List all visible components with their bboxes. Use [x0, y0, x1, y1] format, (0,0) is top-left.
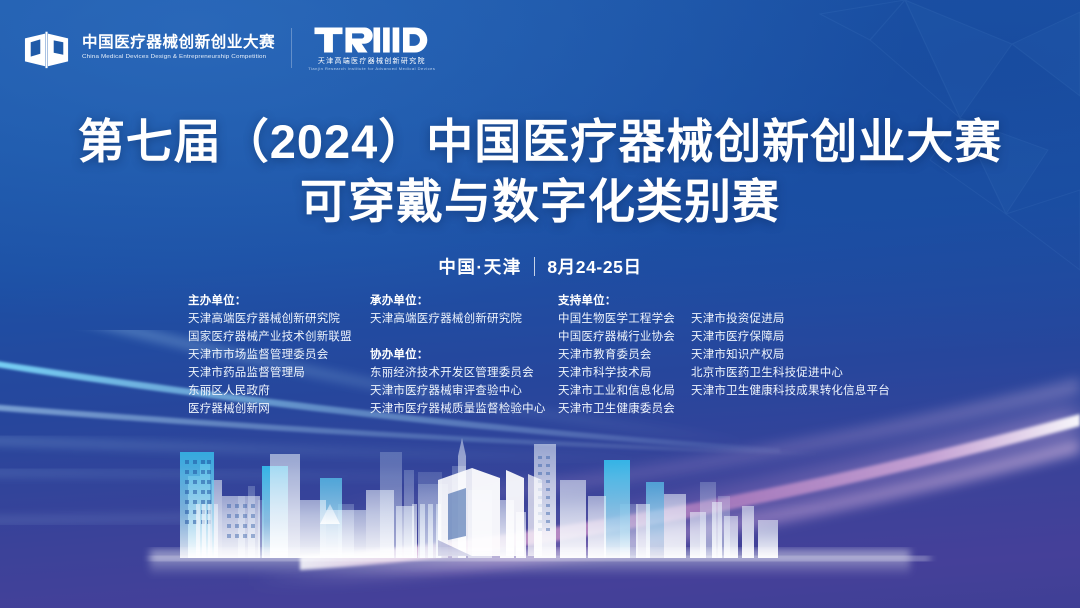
city-skyline	[0, 408, 1080, 608]
undertaker-column: 承办单位： 天津高端医疗器械创新研究院 协办单位： 东丽经济技术开发区管理委员会…	[370, 292, 558, 418]
subtitle-row: 中国·天津 8月24-25日	[0, 254, 1080, 279]
supporter-item: 天津市知识产权局	[691, 346, 890, 364]
organizers-block: 主办单位： 天津高端医疗器械创新研究院 国家医疗器械产业技术创新联盟 天津市市场…	[188, 292, 948, 418]
supporters-block: 支持单位： 中国生物医学工程学会 中国医疗器械行业协会 天津市教育委员会 天津市…	[558, 292, 890, 418]
event-place: 中国·天津	[438, 254, 521, 279]
supporters-column-2: 天津市投资促进局 天津市医疗保障局 天津市知识产权局 北京市医药卫生科技促进中心…	[691, 292, 890, 418]
supporters-heading: 支持单位：	[558, 292, 691, 310]
supporters-column-2-spacer	[691, 292, 890, 310]
supporter-item: 天津市科学技术局	[558, 364, 691, 382]
cmde-logo[interactable]: 中国医疗器械创新创业大赛 China Medical Devices Desig…	[22, 25, 275, 71]
cmde-logo-cn: 中国医疗器械创新创业大赛	[82, 35, 275, 51]
supporter-item: 天津市投资促进局	[691, 310, 890, 328]
trimd-logo-cn: 天津高端医疗器械创新研究院	[318, 58, 426, 65]
title-block: 第七届（2024）中国医疗器械创新创业大赛 可穿戴与数字化类别赛 中国·天津 8…	[0, 112, 1080, 279]
title-line-1: 第七届（2024）中国医疗器械创新创业大赛	[0, 112, 1080, 172]
coorganizer-item: 东丽经济技术开发区管理委员会	[370, 364, 558, 382]
portal-monument	[438, 468, 542, 556]
event-poster: 中国医疗器械创新创业大赛 China Medical Devices Desig…	[0, 0, 1080, 608]
host-item: 东丽区人民政府	[188, 382, 370, 400]
supporter-item: 中国医疗器械行业协会	[558, 328, 691, 346]
undertaker-heading: 承办单位：	[370, 292, 558, 310]
supporter-item: 天津市医疗保障局	[691, 328, 890, 346]
host-item: 天津市药品监督管理局	[188, 364, 370, 382]
supporter-item: 北京市医药卫生科技促进中心	[691, 364, 890, 382]
host-heading: 主办单位：	[188, 292, 370, 310]
coorganizer-item: 天津市医疗器械审评查验中心	[370, 382, 558, 400]
host-item: 医疗器械创新网	[188, 400, 370, 418]
title-line-2: 可穿戴与数字化类别赛	[0, 172, 1080, 232]
coorganizer-item: 天津市医疗器械质量监督检验中心	[370, 400, 558, 418]
trimd-wordmark-icon	[313, 24, 431, 56]
header-logo-bar: 中国医疗器械创新创业大赛 China Medical Devices Desig…	[22, 24, 435, 71]
coorganizer-heading: 协办单位：	[370, 346, 558, 364]
supporter-item: 天津市卫生健康委员会	[558, 400, 691, 418]
column-spacer	[370, 328, 558, 346]
supporter-item: 天津市工业和信息化局	[558, 382, 691, 400]
host-item: 天津市市场监督管理委员会	[188, 346, 370, 364]
subtitle-separator	[534, 257, 536, 276]
supporter-item: 天津市卫生健康科技成果转化信息平台	[691, 382, 890, 400]
open-door-icon	[22, 25, 72, 71]
event-date: 8月24-25日	[547, 254, 641, 279]
trimd-logo-en: Tianjin Research Institute for Advanced …	[308, 67, 435, 71]
supporter-item: 中国生物医学工程学会	[558, 310, 691, 328]
host-column: 主办单位： 天津高端医疗器械创新研究院 国家医疗器械产业技术创新联盟 天津市市场…	[188, 292, 370, 418]
trimd-logo[interactable]: 天津高端医疗器械创新研究院 Tianjin Research Institute…	[308, 24, 435, 71]
host-item: 国家医疗器械产业技术创新联盟	[188, 328, 370, 346]
supporters-column-1: 支持单位： 中国生物医学工程学会 中国医疗器械行业协会 天津市教育委员会 天津市…	[558, 292, 691, 418]
host-item: 天津高端医疗器械创新研究院	[188, 310, 370, 328]
supporter-item: 天津市教育委员会	[558, 346, 691, 364]
undertaker-item: 天津高端医疗器械创新研究院	[370, 310, 558, 328]
logo-divider	[291, 28, 292, 68]
cmde-logo-en: China Medical Devices Design & Entrepren…	[82, 54, 275, 60]
